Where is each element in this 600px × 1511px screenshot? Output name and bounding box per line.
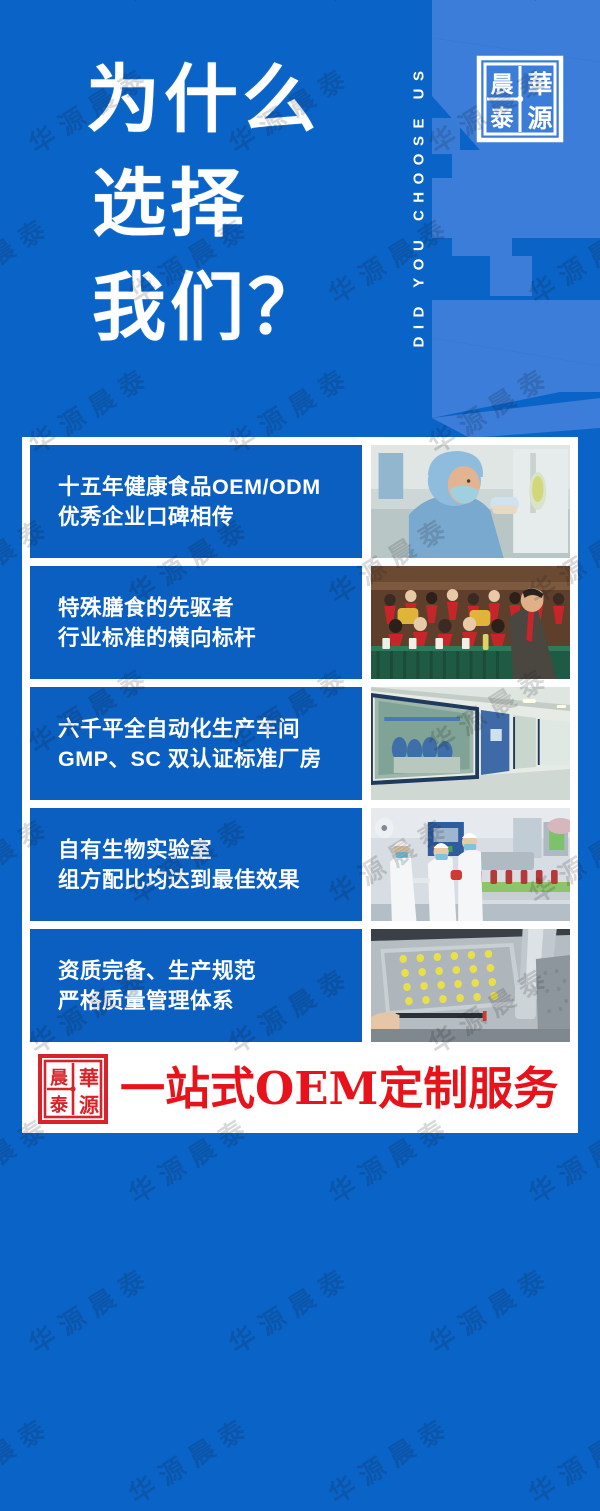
- feature-5-line-1: 资质完备、生产规范: [58, 956, 362, 986]
- vertical-slogan: DID YOU CHOOSE US: [404, 10, 434, 400]
- feature-1-line-2: 优秀企业口碑相传: [58, 502, 362, 532]
- list-item[interactable]: 自有生物实验室 组方配比均达到最佳效果: [30, 808, 570, 921]
- feature-2-line-1: 特殊膳食的先驱者: [58, 593, 362, 623]
- footer-stamp-char-tai: 泰: [49, 1094, 69, 1116]
- packaging-machine-photo: [371, 929, 570, 1042]
- feature-3-line-2: GMP、SC 双认证标准厂房: [58, 744, 362, 774]
- feature-text-4: 自有生物实验室 组方配比均达到最佳效果: [30, 808, 362, 921]
- list-item[interactable]: 特殊膳食的先驱者 行业标准的横向标杆: [30, 566, 570, 679]
- watermark-text: 华源晨泰: [0, 1406, 59, 1511]
- company-stamp-logo-red: 晨 泰 華 源: [36, 1051, 110, 1127]
- feature-4-line-1: 自有生物实验室: [58, 835, 362, 865]
- watermark-text: 华源晨泰: [21, 1256, 159, 1362]
- watermark-text: 华源晨泰: [221, 1256, 359, 1362]
- watermark-text: 华源晨泰: [421, 1256, 559, 1362]
- list-item[interactable]: 资质完备、生产规范 严格质量管理体系: [30, 929, 570, 1042]
- cleanroom-corridor-photo: [371, 687, 570, 800]
- watermark-text: 华源晨泰: [121, 1406, 259, 1511]
- company-stamp-logo-white: 晨 泰 華 源: [474, 52, 566, 146]
- feature-text-5: 资质完备、生产规范 严格质量管理体系: [30, 929, 362, 1042]
- page-title-line-3: 我们？: [86, 256, 326, 360]
- stamp-char-tai: 泰: [490, 105, 515, 132]
- feature-rows: 十五年健康食品OEM/ODM 优秀企业口碑相传: [30, 445, 570, 1042]
- feature-text-3: 六千平全自动化生产车间 GMP、SC 双认证标准厂房: [30, 687, 362, 800]
- feature-text-2: 特殊膳食的先驱者 行业标准的横向标杆: [30, 566, 362, 679]
- list-item[interactable]: 十五年健康食品OEM/ODM 优秀企业口碑相传: [30, 445, 570, 558]
- footer-slogan: 一站式OEM定制服务: [120, 1064, 558, 1114]
- page-title-line-1: 为什么: [86, 48, 326, 152]
- feature-text-1: 十五年健康食品OEM/ODM 优秀企业口碑相传: [30, 445, 362, 558]
- feature-1-line-1: 十五年健康食品OEM/ODM: [58, 472, 362, 502]
- footer-stamp-char-chen: 晨: [50, 1068, 69, 1089]
- vertical-slogan-text: DID YOU CHOOSE US: [411, 63, 428, 347]
- page-title-line-2: 选择: [86, 152, 326, 256]
- watermark-text: 华源晨泰: [521, 1406, 600, 1511]
- list-item[interactable]: 六千平全自动化生产车间 GMP、SC 双认证标准厂房: [30, 687, 570, 800]
- feature-5-line-2: 严格质量管理体系: [58, 986, 362, 1016]
- watermark-text: 华源晨泰: [321, 1406, 459, 1511]
- feature-4-line-2: 组方配比均达到最佳效果: [58, 865, 362, 895]
- conference-audience-photo: [371, 566, 570, 679]
- footer-banner: 晨 泰 華 源 一站式OEM定制服务: [22, 1045, 562, 1133]
- features-panel: 十五年健康食品OEM/ODM 优秀企业口碑相传: [22, 437, 578, 1133]
- stamp-char-chen: 晨: [491, 71, 515, 98]
- stamp-char-hua: 華: [527, 70, 552, 99]
- page-title: 为什么 选择 我们？: [86, 48, 326, 360]
- footer-stamp-char-hua: 華: [79, 1066, 99, 1090]
- feature-3-line-1: 六千平全自动化生产车间: [58, 714, 362, 744]
- lab-technician-photo: [371, 445, 570, 558]
- footer-stamp-char-yuan: 源: [79, 1093, 99, 1117]
- feature-2-line-2: 行业标准的横向标杆: [58, 623, 362, 653]
- stamp-char-yuan: 源: [527, 104, 552, 133]
- production-line-workers-photo: [371, 808, 570, 921]
- header: 为什么 选择 我们？ DID YOU CHOOSE US 晨 泰 華 源: [0, 0, 600, 437]
